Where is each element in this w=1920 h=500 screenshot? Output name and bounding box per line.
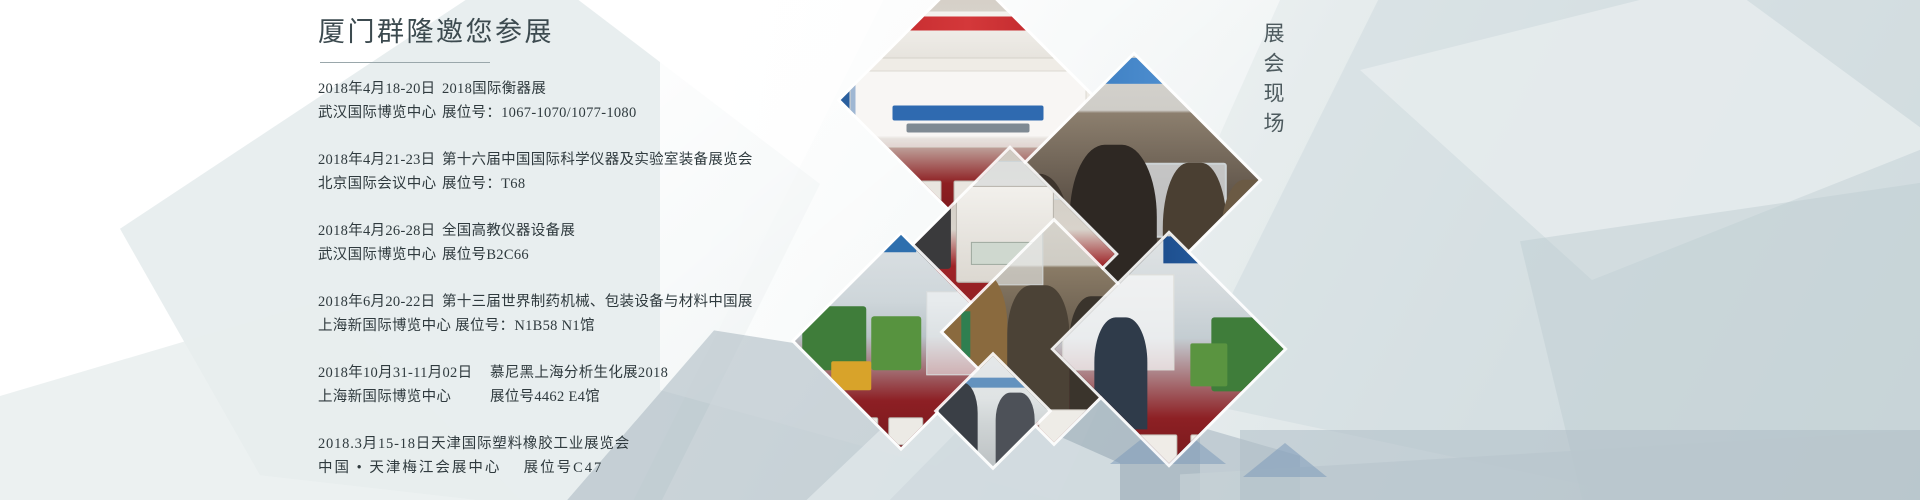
event-venue: 中国 • 天津梅江会展中心 (318, 457, 518, 480)
event-row-date-name: 2018年6月20-22日 第十三届世界制药机械、包装设备与材料中国展 (318, 291, 1078, 314)
event-venue: 上海新国际博览中心 (318, 315, 451, 338)
vertical-section-label: 展会现场 (1258, 22, 1288, 142)
event-row-venue-booth: 北京国际会议中心 展位号：T68 (318, 173, 1078, 196)
event-date: 2018年4月21-23日 (318, 149, 438, 172)
event-name: 第十三届世界制药机械、包装设备与材料中国展 (442, 291, 753, 314)
event-booth: 展位号：N1B58 N1馆 (455, 315, 595, 338)
title-underline-divider (320, 62, 490, 63)
event-row-date-name: 2018.3月15-18日天津国际塑料橡胶工业展览会 (318, 433, 1078, 456)
event-item[interactable]: 2018.3月15-18日天津国际塑料橡胶工业展览会 中国 • 天津梅江会展中心… (318, 433, 1078, 480)
event-item[interactable]: 2018年4月18-20日 2018国际衡器展 武汉国际博览中心 展位号：106… (318, 78, 1078, 125)
event-row-venue-booth: 上海新国际博览中心 展位号：N1B58 N1馆 (318, 315, 1078, 338)
event-venue: 武汉国际博览中心 (318, 102, 438, 125)
event-venue: 武汉国际博览中心 (318, 244, 438, 267)
event-venue: 北京国际会议中心 (318, 173, 438, 196)
event-date: 2018年4月18-20日 (318, 78, 438, 101)
event-row-date-name: 2018年4月26-28日 全国高教仪器设备展 (318, 220, 1078, 243)
event-row-date-name: 2018年4月21-23日 第十六届中国国际科学仪器及实验室装备展览会 (318, 149, 1078, 172)
event-row-venue-booth: 武汉国际博览中心 展位号：1067-1070/1077-1080 (318, 102, 1078, 125)
event-booth: 展位号：T68 (442, 173, 525, 196)
event-item[interactable]: 2018年4月21-23日 第十六届中国国际科学仪器及实验室装备展览会 北京国际… (318, 149, 1078, 196)
event-booth: 展位号4462 E4馆 (490, 386, 600, 409)
event-date: 2018年10月31-11月02日 (318, 362, 486, 385)
event-item[interactable]: 2018年10月31-11月02日 慕尼黑上海分析生化展2018 上海新国际博览… (318, 362, 1078, 409)
event-date: 2018年4月26-28日 (318, 220, 438, 243)
event-date: 2018年6月20-22日 (318, 291, 438, 314)
event-item[interactable]: 2018年6月20-22日 第十三届世界制药机械、包装设备与材料中国展 上海新国… (318, 291, 1078, 338)
event-item[interactable]: 2018年4月26-28日 全国高教仪器设备展 武汉国际博览中心 展位号B2C6… (318, 220, 1078, 267)
event-date: 2018.3月15-18日天津国际塑料橡胶工业展览会 (318, 436, 630, 452)
event-row-venue-booth: 上海新国际博览中心 展位号4462 E4馆 (318, 386, 1078, 409)
event-name: 第十六届中国国际科学仪器及实验室装备展览会 (442, 149, 753, 172)
page-title: 厦门群隆邀您参展 (318, 14, 1078, 60)
event-booth: 展位号B2C66 (442, 244, 529, 267)
event-row-date-name: 2018年10月31-11月02日 慕尼黑上海分析生化展2018 (318, 362, 1078, 385)
event-name: 2018国际衡器展 (442, 78, 546, 101)
event-row-date-name: 2018年4月18-20日 2018国际衡器展 (318, 78, 1078, 101)
event-name: 全国高教仪器设备展 (442, 220, 575, 243)
event-list-panel: 厦门群隆邀您参展 2018年4月18-20日 2018国际衡器展 武汉国际博览中… (318, 14, 1078, 500)
event-row-venue-booth: 中国 • 天津梅江会展中心 展位号C47 (318, 457, 1078, 480)
event-booth: 展位号C47 (524, 457, 604, 480)
event-name: 慕尼黑上海分析生化展2018 (490, 362, 668, 385)
event-venue: 上海新国际博览中心 (318, 386, 486, 409)
banner-root: 厦门群隆邀您参展 2018年4月18-20日 2018国际衡器展 武汉国际博览中… (0, 0, 1920, 500)
event-row-venue-booth: 武汉国际博览中心 展位号B2C66 (318, 244, 1078, 267)
event-booth: 展位号：1067-1070/1077-1080 (442, 102, 637, 125)
